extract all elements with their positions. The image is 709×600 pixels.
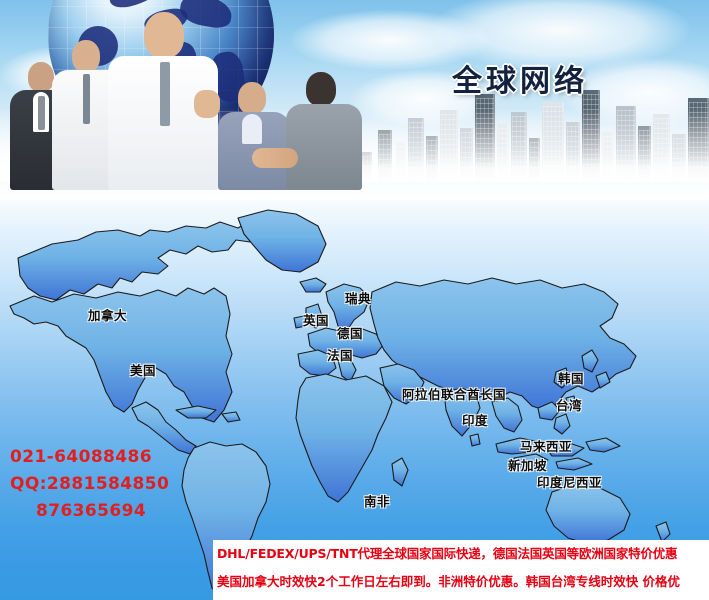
map-label-france: 法国 (327, 345, 353, 364)
map-label-south-korea: 韩国 (558, 368, 584, 387)
map-label-uae: 阿拉伯联合酋长国 (402, 384, 506, 403)
map-label-india: 印度 (462, 410, 488, 429)
map-label-malaysia: 马来西亚 (520, 436, 572, 455)
promo-line-1: DHL/FEDEX/UPS/TNT代理全球国家国际快递，德国法国英国等欧洲国家特… (213, 540, 709, 568)
business-people-icon (0, 0, 420, 200)
contact-qq-secondary: 876365694 (10, 498, 200, 525)
map-label-uk: 英国 (303, 310, 329, 329)
map-label-indonesia: 印度尼西亚 (537, 472, 602, 491)
map-label-germany: 德国 (337, 323, 363, 342)
map-label-canada: 加拿大 (88, 305, 127, 324)
contact-info: 021-64088486 QQ:2881584850 876365694 (10, 444, 200, 525)
promo-banner: DHL/FEDEX/UPS/TNT代理全球国家国际快递，德国法国英国等欧洲国家特… (213, 540, 709, 600)
map-label-taiwan: 台湾 (556, 395, 582, 414)
page-title: 全球网络 (452, 56, 588, 100)
hero-banner: 全球网络 (0, 0, 709, 200)
map-label-usa: 美国 (130, 360, 156, 379)
map-label-sweden: 瑞典 (345, 288, 371, 307)
page-root: 全球网络 (0, 0, 709, 600)
contact-phone: 021-64088486 (10, 444, 200, 471)
map-label-south-africa: 南非 (364, 491, 390, 510)
contact-qq-primary: QQ:2881584850 (10, 471, 200, 498)
promo-line-2: 美国加拿大时效快2个工作日左右即到。非洲特价优惠。韩国台湾专线时效快 价格优 (213, 568, 709, 596)
